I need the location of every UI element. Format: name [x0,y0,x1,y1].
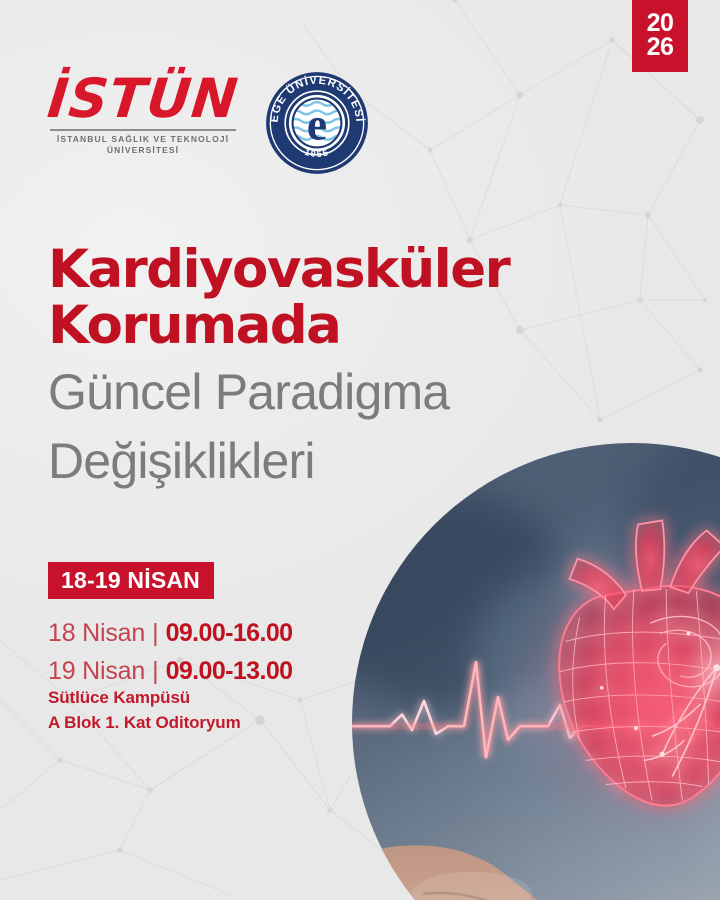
year-badge: 20 26 [632,0,688,72]
title-red-line2: Korumada [48,298,588,354]
schedule-row: 18 Nisan | 09.00-16.00 [48,614,378,652]
ege-university-seal-icon: e EGE ÜNİVERSİTESİ 1955 [264,70,370,176]
venue-line2: A Blok 1. Kat Oditoryum [48,711,241,736]
istun-logo: İSTÜN İSTANBUL SAĞLIK VE TEKNOLOJİ ÜNİVE… [48,72,238,157]
istun-subtitle-line2: ÜNİVERSİTESİ [48,145,238,156]
istun-wordmark-icon: İSTÜN [45,72,241,126]
event-poster: 20 26 İSTÜN İSTANBUL SAĞLIK VE TEKNOLOJİ… [0,0,720,900]
title-red-line1: Kardiyovasküler [48,242,588,298]
venue-block: Sütlüce Kampüsü A Blok 1. Kat Oditoryum [48,686,241,735]
svg-text:e: e [307,98,327,149]
schedule-day: 18 Nisan [48,614,145,652]
schedule-separator: | [145,652,166,690]
date-badge: 18-19 NİSAN [48,562,214,599]
schedule-separator: | [145,614,166,652]
logo-row: İSTÜN İSTANBUL SAĞLIK VE TEKNOLOJİ ÜNİVE… [48,72,378,182]
istun-subtitle-line1: İSTANBUL SAĞLIK VE TEKNOLOJİ [48,134,238,145]
subtitle-gray-line1: Güncel Paradigma [48,363,588,422]
venue-line1: Sütlüce Kampüsü [48,686,241,711]
schedule-time: 09.00-16.00 [166,614,293,652]
schedule-row: 19 Nisan | 09.00-13.00 [48,652,378,690]
year-badge-bottom: 26 [647,36,674,60]
heart-photo-circle [352,443,720,900]
schedule-time: 09.00-13.00 [166,652,293,690]
schedule-day: 19 Nisan [48,652,145,690]
schedule-list: 18 Nisan | 09.00-16.00 19 Nisan | 09.00-… [48,614,378,690]
wireframe-heart-icon [509,488,720,835]
